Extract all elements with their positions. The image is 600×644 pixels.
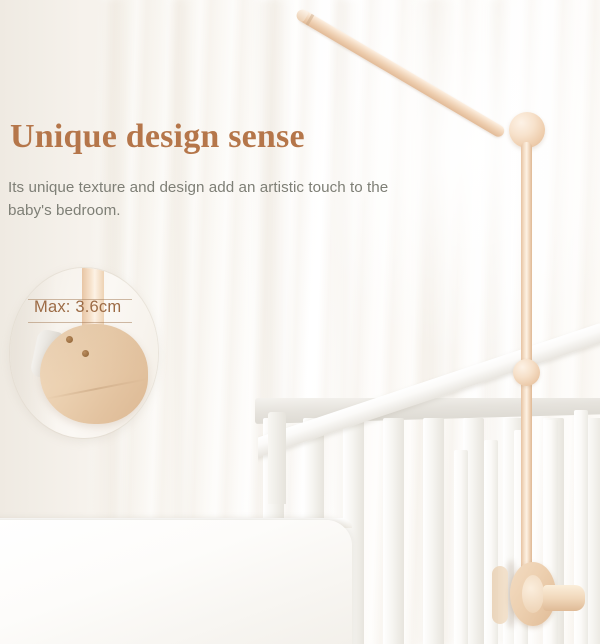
callout-screw [82,350,89,357]
wood-bead [513,359,540,386]
product-photo-scene: Max: 3.6cm Unique design sense Its uniqu… [0,0,600,644]
max-thickness-label: Max: 3.6cm [34,298,121,317]
page-title: Unique design sense [10,118,305,156]
callout-screw [66,336,73,343]
screw-clamp-knob [543,585,585,611]
crib-corner-post [268,412,286,504]
screw-clamp-disc-inner [522,575,544,613]
body-copy: Its unique texture and design add an art… [8,176,428,222]
crib-slat [454,450,468,644]
dimension-line-bottom [28,322,132,323]
callout-wood-mount [40,324,148,424]
clamp-back-plate [492,566,508,624]
crib-side-panel [0,520,352,644]
closeup-callout-circle: Max: 3.6cm [10,268,158,438]
